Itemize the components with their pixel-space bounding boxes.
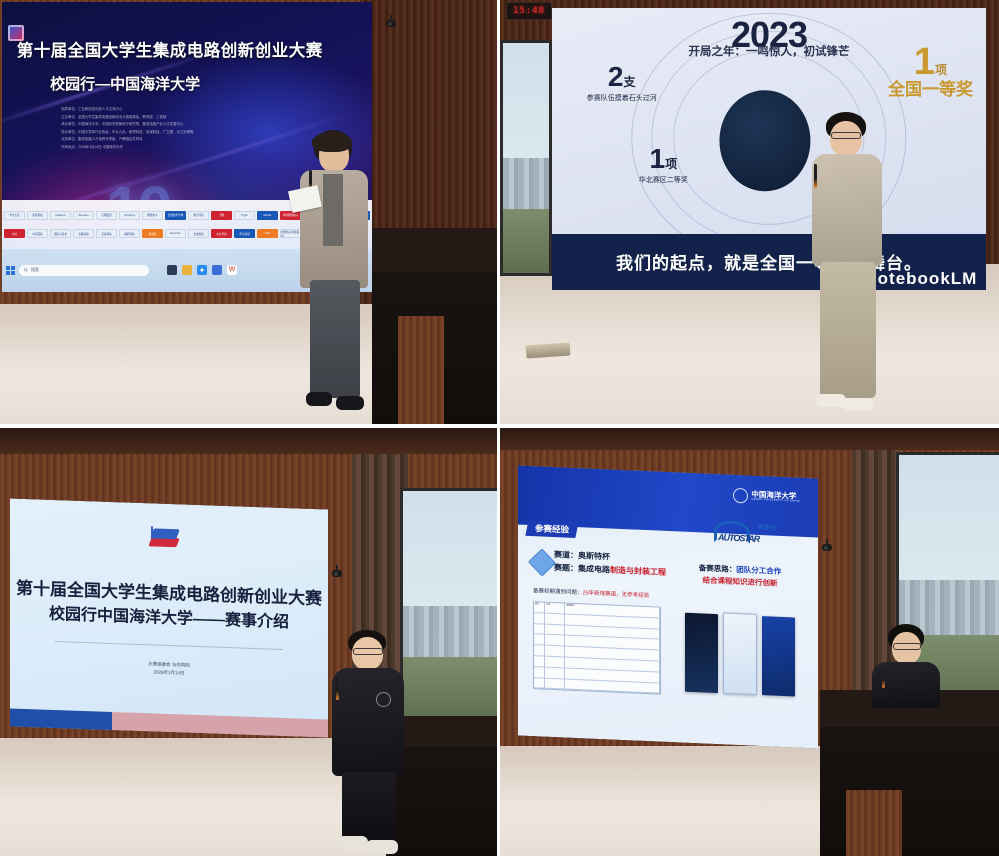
- microphone-icon: [814, 164, 817, 188]
- stat-unit: 支: [624, 75, 636, 89]
- slide-competition-experience: 中国海洋大学 OCEAN UNIVERSITY OF CHINA 参赛经验 AU…: [518, 465, 818, 748]
- microphone-icon: [336, 678, 339, 700]
- clock-time: 15:48: [513, 6, 545, 16]
- idea-prefix: 备赛思路：: [699, 563, 737, 574]
- ic-contest-logo-icon: [150, 528, 182, 551]
- ceiling-camera-icon: [386, 20, 396, 27]
- stat-national-first-prize: 1项 全国一等奖: [888, 45, 973, 100]
- slide-event-introduction: 第十届全国大学生集成电路创新创业大赛 校园行中国海洋大学——赛事介绍 大赛组委会…: [10, 498, 328, 737]
- lectern: [820, 690, 999, 856]
- sponsor-logo: 新思科技: [27, 211, 48, 220]
- idea-line2: 结合课程知识进行创新: [680, 574, 800, 591]
- glasses: [353, 648, 383, 655]
- chrome-icon[interactable]: [197, 265, 207, 275]
- stat-unit: 项: [665, 157, 677, 171]
- sponsor-logo: Synopsys: [119, 211, 140, 220]
- sweater: [812, 154, 882, 266]
- photo-collage: 10 第十届全国大学生集成电路创新创业大赛 校园行—中国海洋大学 指导单位：工业…: [0, 0, 999, 856]
- panel-top-left: 10 第十届全国大学生集成电路创新创业大赛 校园行—中国海洋大学 指导单位：工业…: [0, 0, 500, 428]
- slide-title: 第十届全国大学生集成电路创新创业大赛: [17, 37, 298, 61]
- diamond-bullet-icon: [527, 549, 555, 577]
- shoe-right: [366, 840, 398, 854]
- topic-label-prefix: 赛题：集成电路: [554, 563, 610, 574]
- sponsor-logo-autostar: AUTOSTAR 奥斯特: [714, 520, 776, 545]
- slide-subtitle: 校园行—中国海洋大学: [50, 73, 200, 94]
- sponsor-logo: 北方华创: [211, 229, 232, 238]
- university-logo: 中国海洋大学 OCEAN UNIVERSITY OF CHINA: [733, 488, 800, 506]
- stat-caption: 全国一等奖: [888, 75, 973, 100]
- trousers: [342, 772, 396, 842]
- shoe-right: [842, 398, 874, 411]
- speaker-person: [330, 630, 408, 856]
- dark-orb-decoration: [719, 90, 810, 192]
- sponsor-logo: 华大九天: [4, 211, 25, 220]
- wps-icon[interactable]: W: [227, 265, 237, 275]
- shoe-right: [336, 396, 364, 410]
- sponsor-logo: OFC: [257, 229, 278, 238]
- topic-label-highlight: 制造与封装工程: [610, 566, 666, 577]
- slide-banner: 我们的起点，就是全国一等奖的舞台。 ◈ NotebookLM: [552, 234, 986, 290]
- window: [400, 488, 500, 724]
- sponsor-logo: 安路科技: [73, 229, 94, 238]
- book-cover: [723, 613, 758, 695]
- divider: [55, 641, 284, 650]
- search-icon: [24, 268, 28, 272]
- shoe-left: [338, 836, 368, 850]
- requirements-table: 类别项目赛题要求: [533, 601, 661, 695]
- autostar-wordmark: AUTOSTAR: [718, 532, 759, 544]
- sponsor-logo: 比亚迪半导体: [165, 211, 186, 220]
- note-highlight: 25年新增赛道，无参考经验: [583, 590, 650, 599]
- slide-section-tab: 参赛经验: [525, 520, 578, 538]
- stat-teams: 2支 参赛队伍摸着石头过河: [587, 64, 657, 103]
- book-cover: [762, 616, 795, 696]
- start-button-icon[interactable]: [6, 266, 15, 275]
- footer-bar-blue: [10, 708, 112, 730]
- side-window: [500, 40, 552, 276]
- sponsor-logo: Trigyn: [234, 211, 255, 220]
- university-name-en: OCEAN UNIVERSITY OF CHINA: [751, 499, 800, 504]
- glasses: [831, 132, 861, 139]
- sponsor-logo: 概伦电子: [142, 211, 163, 220]
- trousers: [820, 262, 876, 398]
- panel-bottom-right: 中国海洋大学 OCEAN UNIVERSITY OF CHINA 参赛经验 AU…: [500, 428, 999, 856]
- sponsor-logo: 国家大基金: [50, 229, 71, 238]
- glasses: [893, 643, 921, 650]
- stat-number: 1: [650, 143, 666, 174]
- stat-caption: 华北赛区二等奖: [639, 175, 688, 185]
- inner-top: [323, 174, 343, 246]
- sponsor-logo: 紫光同创: [188, 211, 209, 220]
- stat-caption: 参赛队伍摸着石头过河: [587, 93, 657, 103]
- stat-number: 2: [608, 61, 624, 92]
- slide-preparation-idea: 备赛思路：团队分工合作 结合课程知识进行创新: [680, 562, 800, 591]
- stat-regional-award: 1项 华北赛区二等奖: [639, 146, 688, 185]
- sponsor-logo: 中兴: [4, 229, 25, 238]
- hoodie-logo: [376, 692, 391, 707]
- sponsor-logo: Siemens: [73, 211, 94, 220]
- sponsor-logo: Cadence: [50, 211, 71, 220]
- led-wall-screen: 2023 开局之年：一鸣惊人，初试锋芒 2支 参赛队伍摸着石头过河 1项 华北赛…: [552, 8, 986, 290]
- panel-top-right: 15:48 2023 开局之年：一鸣惊人，初试锋芒 2支 参赛队伍摸着石头过河 …: [500, 0, 999, 428]
- idea-line1: 团队分工合作: [736, 565, 781, 576]
- taskbar-search-input[interactable]: 搜索: [19, 265, 149, 276]
- sponsor-logo: 长电科技: [188, 229, 209, 238]
- sponsor-logo: 燧原科技: [119, 229, 140, 238]
- sponsor-logo: 寒武纪: [142, 229, 163, 238]
- hoodie: [332, 668, 404, 776]
- ceiling-camera-icon: [822, 544, 832, 551]
- shoe-left: [306, 392, 332, 406]
- university-seal-icon: [733, 488, 748, 504]
- trousers: [310, 280, 360, 398]
- speaker-person: [808, 112, 888, 428]
- projection-screen: 中国海洋大学 OCEAN UNIVERSITY OF CHINA 参赛经验 AU…: [518, 465, 818, 748]
- slide-meta: 大赛组委会 与你同阳 2026年1月14日: [10, 656, 328, 683]
- slide-problem-note: 备赛初期遇到问题：25年新增赛道，无参考经验: [533, 586, 649, 599]
- sponsor-logo: NeuCore: [165, 229, 186, 238]
- file-explorer-icon[interactable]: [167, 265, 177, 275]
- folder-icon[interactable]: [182, 265, 192, 275]
- wall-clock: 15:48: [506, 2, 552, 20]
- slide-body-text: 指导单位：工业和信息化部人才交流中心 主办单位：全国大学生集成电路创新创业大赛组…: [61, 106, 253, 151]
- panel-bottom-left: 第十届全国大学生集成电路创新创业大赛 校园行中国海洋大学——赛事介绍 大赛组委会…: [0, 428, 500, 856]
- sponsor-logo: 芯原股份: [96, 211, 117, 220]
- sponsor-logo: 华为海思: [234, 229, 255, 238]
- speaker-person: [290, 130, 380, 428]
- speaker-person: [870, 624, 942, 704]
- sponsor-logo: Mentor: [257, 211, 278, 220]
- sponsor-logo: 飞腾: [211, 211, 232, 220]
- reference-books: [677, 602, 803, 697]
- store-icon[interactable]: [212, 265, 222, 275]
- projection-screen: 第十届全国大学生集成电路创新创业大赛 校园行中国海洋大学——赛事介绍 大赛组委会…: [10, 498, 328, 737]
- ceiling-camera-icon: [332, 570, 342, 577]
- microphone-icon: [882, 668, 885, 688]
- sponsor-logo: 芯来科技: [96, 229, 117, 238]
- slide-2023-results: 2023 开局之年：一鸣惊人，初试锋芒 2支 参赛队伍摸着石头过河 1项 华北赛…: [552, 8, 986, 290]
- book-cover: [685, 613, 718, 693]
- taskbar-search-placeholder: 搜索: [31, 267, 39, 273]
- autostar-name-cn: 奥斯特: [758, 522, 776, 532]
- lectern: [372, 228, 500, 428]
- note-prefix: 备赛初期遇到问题：: [533, 588, 583, 596]
- sponsor-logo: 中芯国际: [27, 229, 48, 238]
- slide-track-info: 赛道：奥斯特杯 赛题：集成电路制造与封装工程: [554, 548, 666, 579]
